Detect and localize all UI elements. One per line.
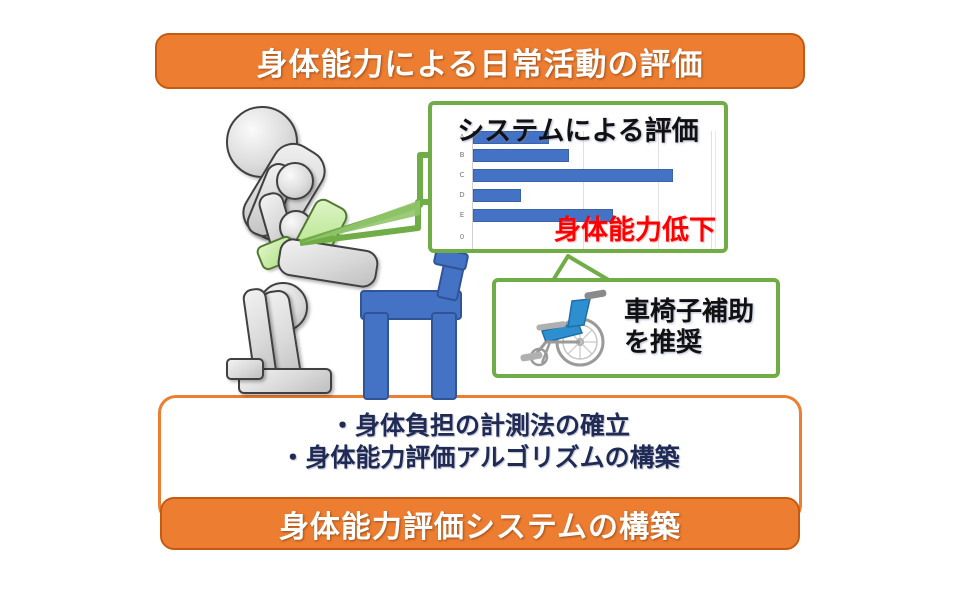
chart-cat-e: E [454, 211, 470, 219]
figure-shoulder-joint [276, 162, 314, 200]
bottom-banner-label: 身体能力評価システムの構築 [279, 502, 681, 546]
goal-line-2: ・身体能力評価アルゴリズムの構築 [280, 442, 679, 474]
top-banner: 身体能力による日常活動の評価 [155, 33, 805, 89]
chart-bar-row-b [473, 149, 569, 162]
chart-bar-row-d [473, 189, 521, 202]
chart-bar-b [473, 149, 569, 162]
wheelchair-icon [506, 285, 624, 371]
bottom-banner: 身体能力評価システムの構築 [160, 497, 800, 550]
chart-bar-d [473, 189, 521, 202]
figure-thigh [276, 236, 381, 289]
chart-bar-c [473, 169, 673, 182]
slide-canvas: 身体能力による日常活動の評価 ・身体負担の計測法の確立 ・身体能力評価アルゴリズ… [0, 0, 960, 600]
alert-label: 身体能力低下 [554, 208, 716, 247]
chart-callout-title: システムによる評価 [432, 109, 724, 148]
human-figure-illustration [190, 100, 450, 400]
system-evaluation-callout: システムによる評価 A B C D E [428, 101, 728, 253]
chart-cat-b: B [454, 151, 470, 159]
wheelchair-text-line1: 車椅子補助 [624, 297, 754, 328]
wheelchair-recommendation-callout: 車椅子補助 を推奨 [492, 278, 780, 378]
wheelchair-text-line2: を推奨 [624, 328, 754, 359]
goal-line-1: ・身体負担の計測法の確立 [330, 410, 630, 442]
chart-bar-row-c [473, 169, 673, 182]
chair-leg-front [363, 312, 389, 400]
top-banner-label: 身体能力による日常活動の評価 [256, 39, 703, 84]
chart-axis-zero-label: 0 [454, 233, 470, 241]
chart-cat-c: C [454, 171, 470, 179]
chart-cat-d: D [454, 191, 470, 199]
figure-heel [226, 358, 264, 380]
wheelchair-callout-text: 車椅子補助 を推奨 [624, 297, 754, 359]
chair-leg-back [431, 312, 457, 400]
